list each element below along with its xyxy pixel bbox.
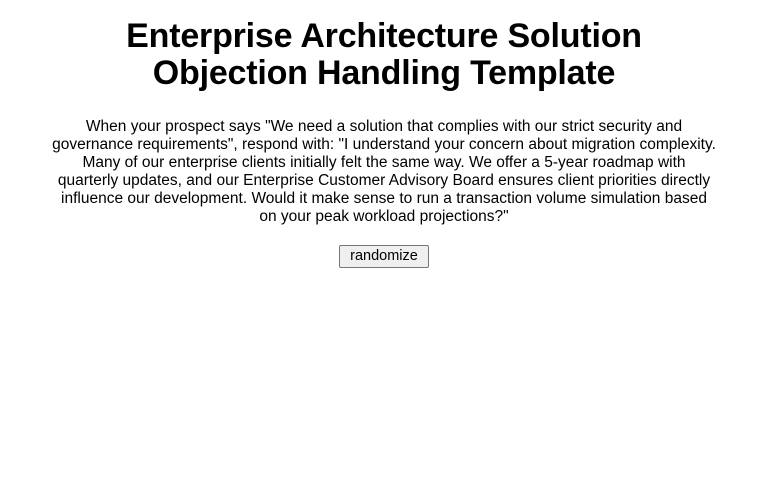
button-row: randomize [0,226,768,268]
randomize-button[interactable]: randomize [339,245,429,268]
page-root: Enterprise Architecture Solution Objecti… [0,0,768,480]
page-title: Enterprise Architecture Solution Objecti… [0,0,768,92]
objection-handling-script: When your prospect says "We need a solut… [0,92,768,226]
